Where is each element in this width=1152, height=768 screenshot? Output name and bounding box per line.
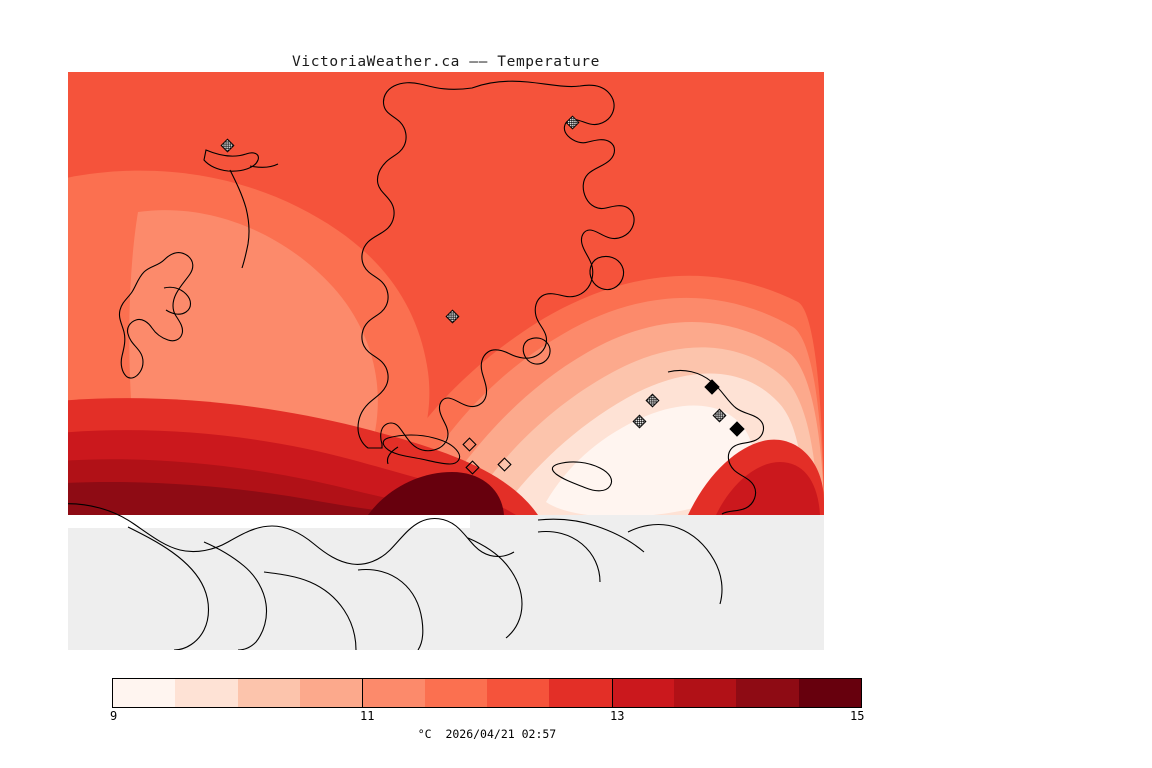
colorbar-segment-0 xyxy=(113,679,175,707)
colorbar-tick-15 xyxy=(861,678,862,708)
colorbar-label-mid-high: 13 xyxy=(610,709,624,723)
colorbar-label-mid-low: 11 xyxy=(360,709,374,723)
temperature-contour-map[interactable] xyxy=(68,72,824,650)
colorbar-segment-5 xyxy=(425,679,487,707)
colorbar-segment-9 xyxy=(674,679,736,707)
colorbar-label-max: 15 xyxy=(850,709,864,723)
colorbar-segment-11 xyxy=(799,679,861,707)
colorbar-tick-13 xyxy=(612,678,613,708)
colorbar-segment-7 xyxy=(549,679,611,707)
page-title: VictoriaWeather.ca —— Temperature xyxy=(68,54,824,70)
contour-field xyxy=(68,72,824,517)
colorbar-gradient[interactable] xyxy=(112,678,862,708)
colorbar[interactable]: 9 11 13 15 xyxy=(112,678,862,708)
colorbar-caption: °C 2026/04/21 02:57 xyxy=(112,727,862,741)
colorbar-segment-4 xyxy=(362,679,424,707)
colorbar-tick-9 xyxy=(112,678,113,708)
colorbar-segment-2 xyxy=(238,679,300,707)
colorbar-segment-10 xyxy=(736,679,798,707)
map-canvas[interactable] xyxy=(68,72,824,650)
lower-right-grey xyxy=(470,515,824,650)
colorbar-segment-1 xyxy=(175,679,237,707)
colorbar-tick-11 xyxy=(362,678,363,708)
colorbar-segment-3 xyxy=(300,679,362,707)
colorbar-segment-8 xyxy=(612,679,674,707)
colorbar-segment-6 xyxy=(487,679,549,707)
weather-map-page: VictoriaWeather.ca —— Temperature xyxy=(0,0,1152,768)
lower-left-grey xyxy=(68,527,470,650)
colorbar-label-min: 9 xyxy=(110,709,117,723)
